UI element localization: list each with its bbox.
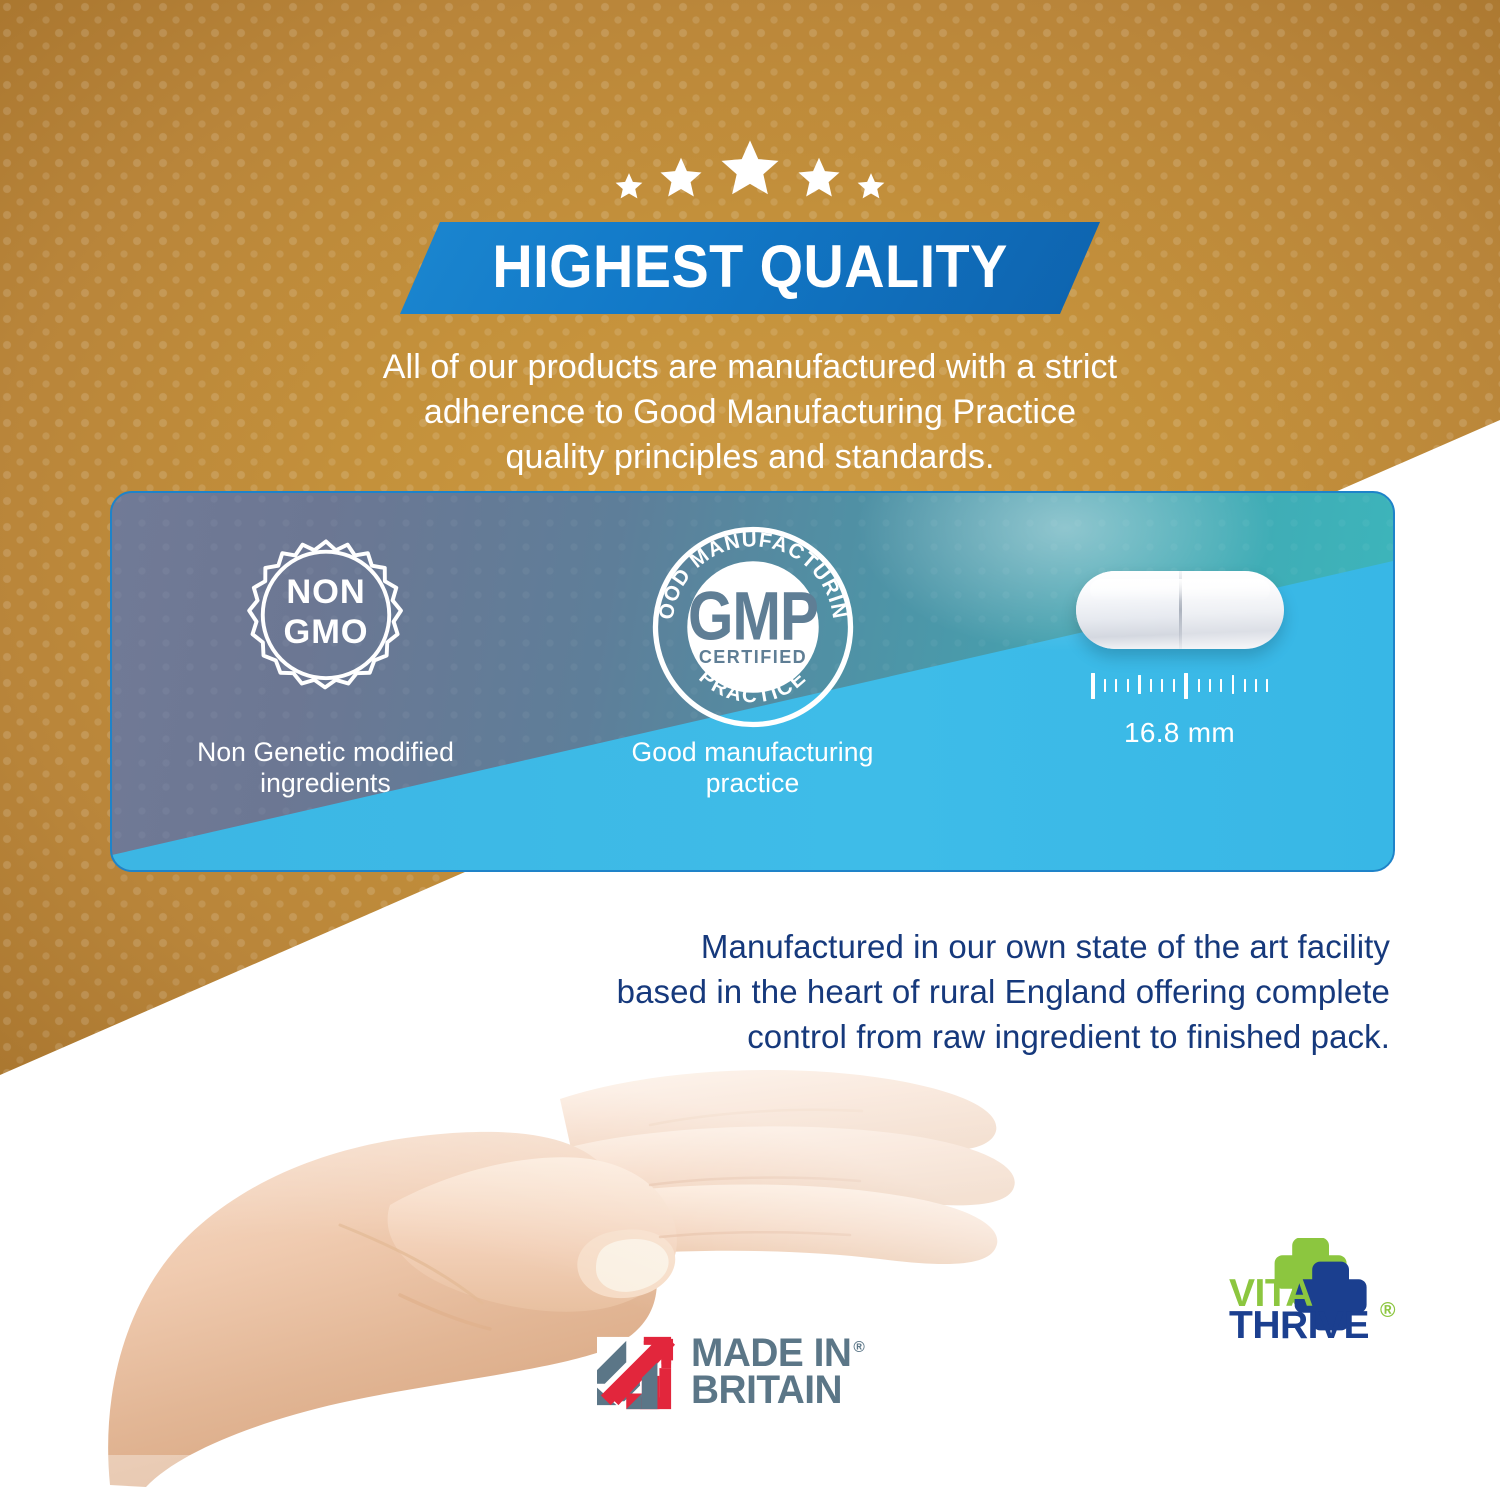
ruler-icon — [1091, 673, 1269, 701]
svg-text:CERTIFIED: CERTIFIED — [698, 647, 806, 667]
vitathrive-logo: VITA THRIVE ® — [1225, 1238, 1415, 1346]
vitathrive-word-thrive: THRIVE — [1229, 1306, 1369, 1345]
gmp-certified-seal-icon: GOOD MANUFACTURING PRACTICE GMP CERTIFIE… — [647, 521, 859, 733]
facility-paragraph: Manufactured in our own state of the art… — [490, 925, 1390, 1060]
banner-title: HIGHEST QUALITY — [492, 237, 1007, 300]
facility-line-3: control from raw ingredient to finished … — [490, 1015, 1390, 1060]
mib-line-1: MADE IN® — [691, 1335, 864, 1372]
star-icon — [614, 172, 644, 202]
promo-graphic: HIGHEST QUALITY All of our products are … — [0, 0, 1500, 1500]
intro-paragraph: All of our products are manufactured wit… — [250, 345, 1250, 481]
intro-line-2: adherence to Good Manufacturing Practice — [250, 390, 1250, 435]
feature-label-gmp: Good manufacturing practice — [632, 737, 874, 800]
svg-text:NON: NON — [286, 573, 365, 611]
star-rating — [0, 128, 1500, 202]
feature-gmp: GOOD MANUFACTURING PRACTICE GMP CERTIFIE… — [539, 493, 966, 870]
features-card: NON GMO Non Genetic modified ingredients — [110, 491, 1395, 872]
feature-label-line-2: practice — [632, 768, 874, 799]
feature-capsule-size: 16.8 mm — [966, 493, 1393, 870]
banner-shape: HIGHEST QUALITY — [400, 222, 1100, 314]
union-jack-arrow-icon — [597, 1333, 675, 1413]
intro-line-1: All of our products are manufactured wit… — [250, 345, 1250, 390]
feature-label-line-1: Non Genetic modified — [197, 737, 454, 768]
star-icon — [718, 138, 782, 202]
vitathrive-registered-mark: ® — [1380, 1300, 1395, 1321]
star-icon — [856, 172, 886, 202]
feature-label-non-gmo: Non Genetic modified ingredients — [197, 737, 454, 800]
capsule-size-label: 16.8 mm — [1124, 717, 1235, 749]
star-icon — [658, 156, 704, 202]
made-in-britain-logo: MADE IN® BRITAIN — [597, 1333, 870, 1413]
facility-line-2: based in the heart of rural England offe… — [490, 970, 1390, 1015]
facility-line-1: Manufactured in our own state of the art… — [490, 925, 1390, 970]
registered-mark: ® — [853, 1339, 864, 1356]
headline-banner: HIGHEST QUALITY — [0, 222, 1500, 314]
non-gmo-seal-icon: NON GMO — [233, 534, 419, 720]
feature-label-line-1: Good manufacturing — [632, 737, 874, 768]
svg-text:GMO: GMO — [283, 613, 368, 651]
feature-label-line-2: ingredients — [197, 768, 454, 799]
capsule-gloss — [1090, 579, 1270, 601]
svg-text:GMP: GMP — [687, 577, 817, 655]
open-palm-hand-image — [90, 1055, 1050, 1500]
feature-non-gmo: NON GMO Non Genetic modified ingredients — [112, 493, 539, 870]
mib-line-2: BRITAIN — [691, 1372, 864, 1409]
capsule-icon — [1076, 571, 1284, 649]
star-icon — [796, 156, 842, 202]
intro-line-3: quality principles and standards. — [250, 435, 1250, 480]
